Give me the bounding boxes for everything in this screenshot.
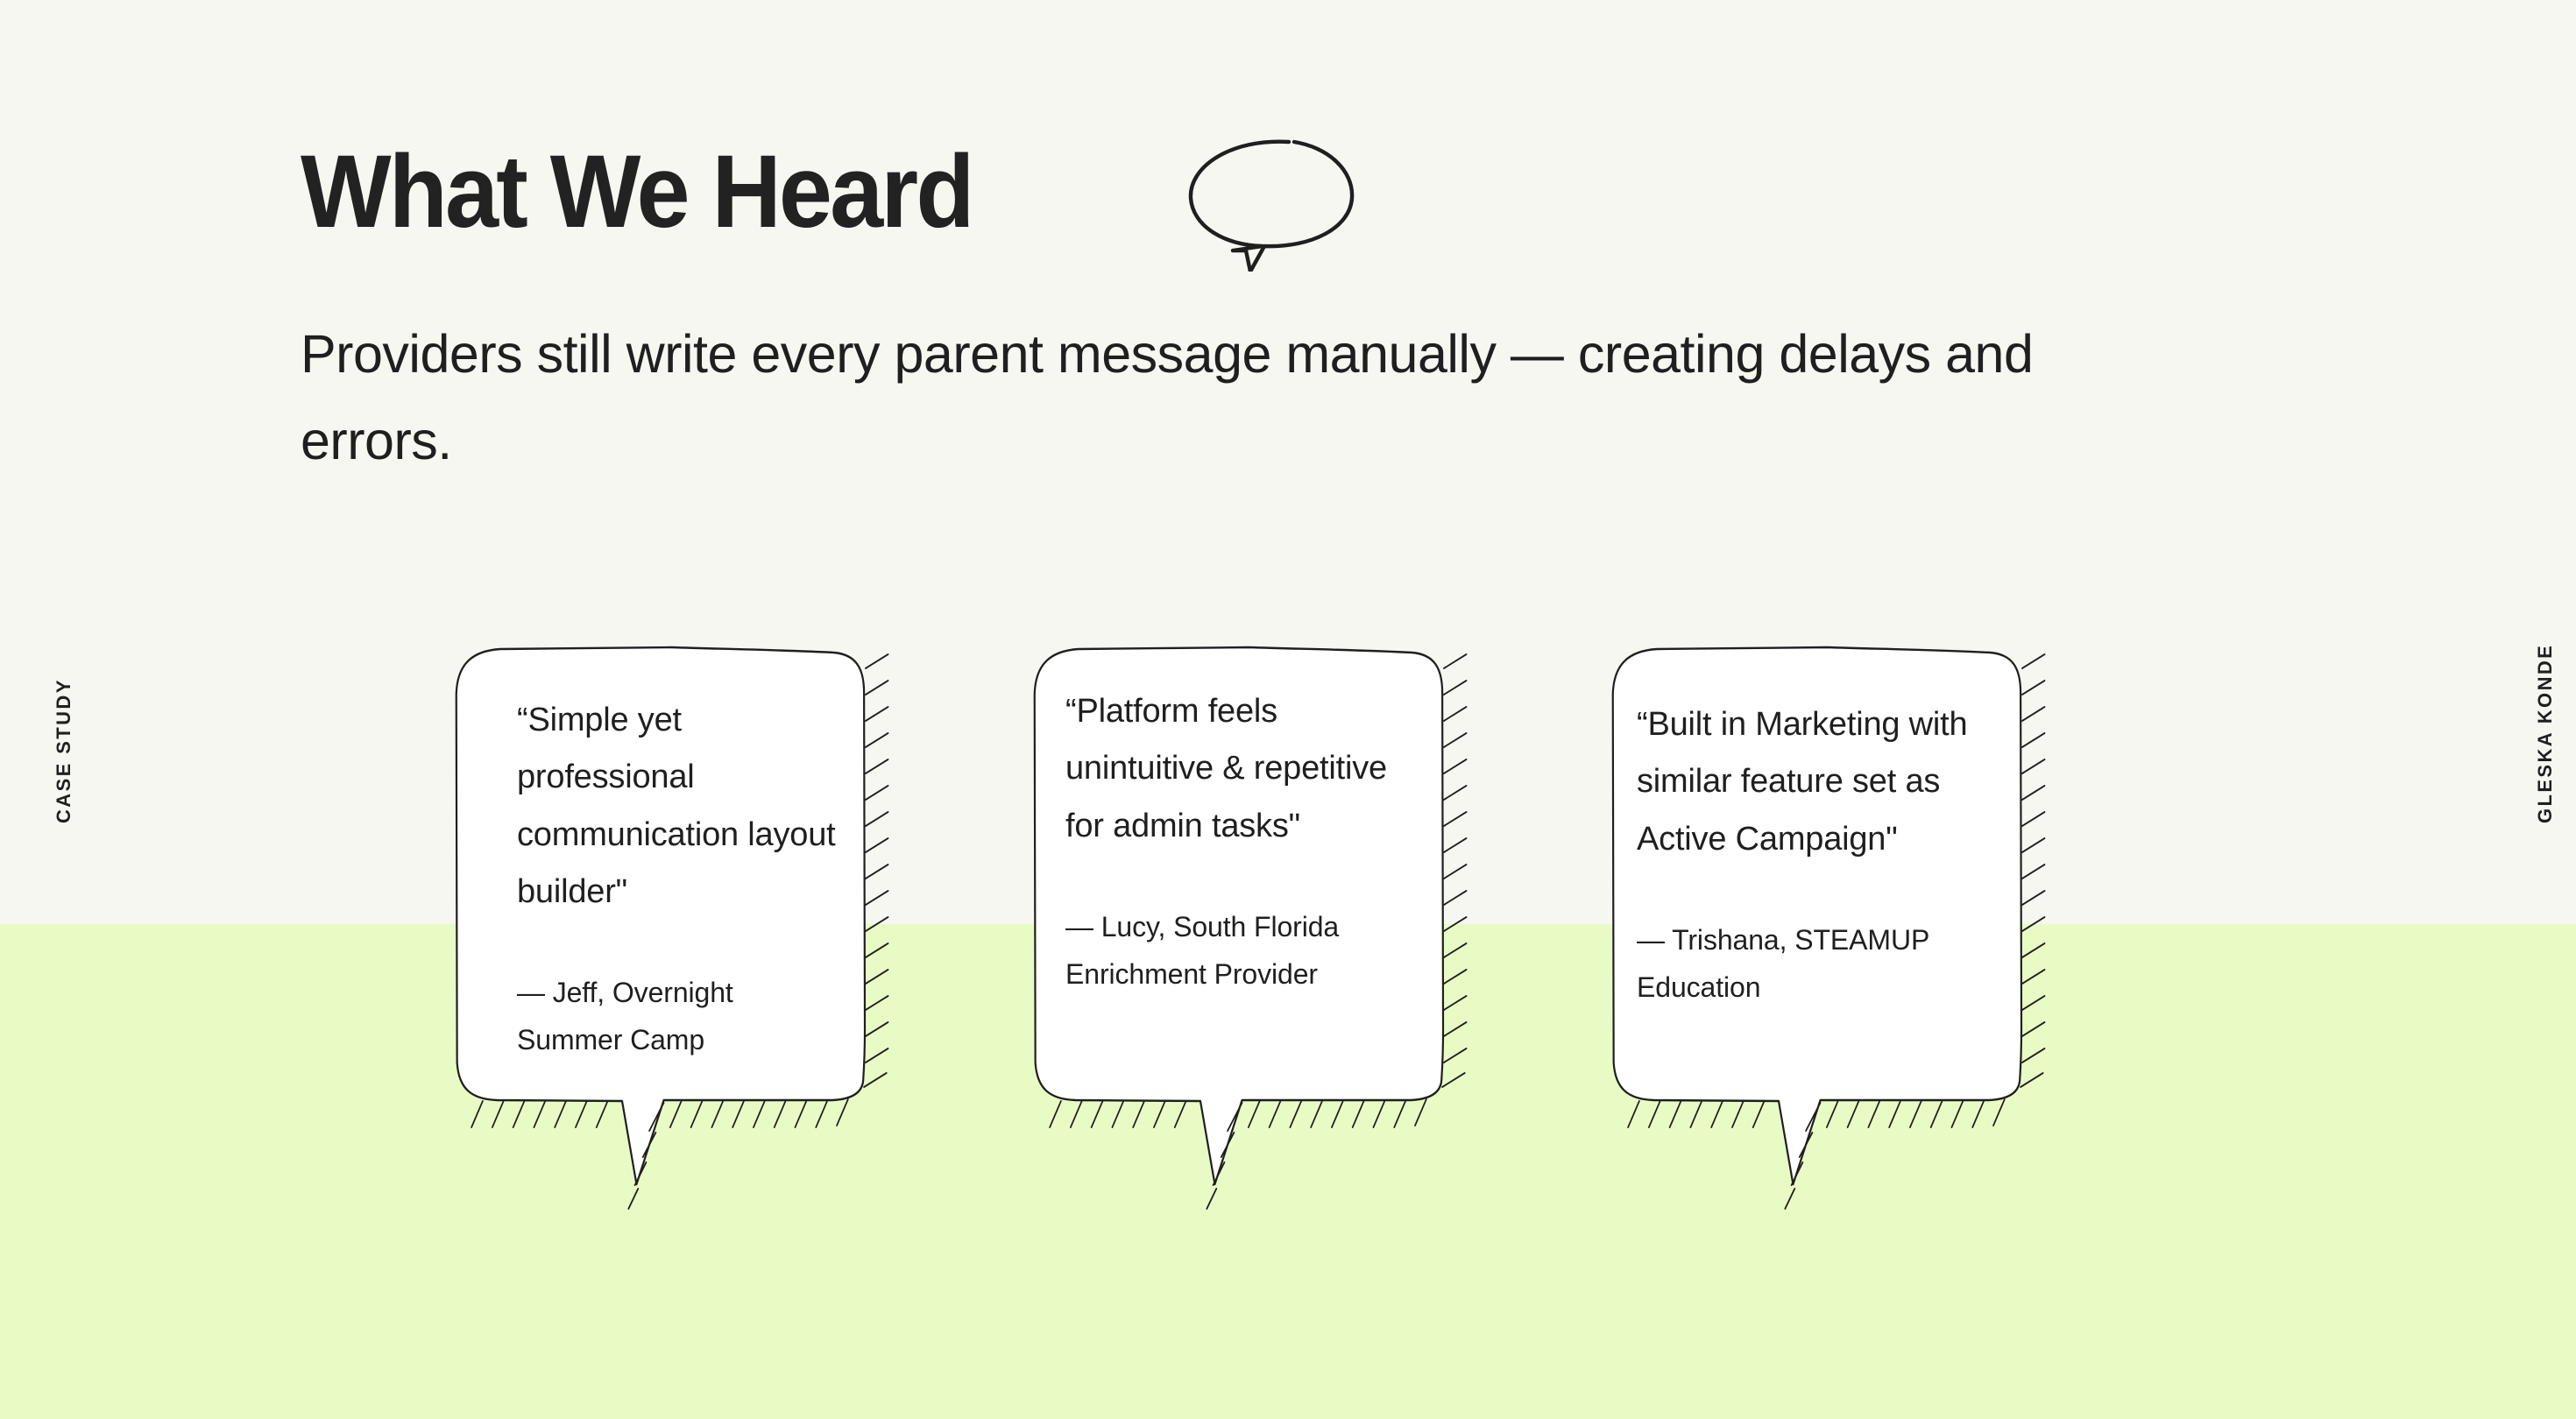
quote-attribution: — Trishana, STEAMUP Education [1637,917,1994,1012]
quote-text: “Simple yet professional communication l… [517,692,841,921]
quote-text: “Built in Marketing with similar feature… [1637,696,1994,868]
quote-card[interactable]: “Platform feels unintuitive & repetitive… [1032,644,1481,1204]
slide-canvas: CASE STUDY GLESKA KONDE What We Heard Pr… [0,0,2576,1419]
quote-attribution: — Lucy, South Florida Enrichment Provide… [1065,904,1425,999]
quote-card-text: “Simple yet professional communication l… [517,692,841,1064]
quote-card-text: “Built in Marketing with similar feature… [1637,696,1994,1012]
quote-card-list: “Simple yet professional communication l… [0,0,2576,1419]
quote-card-text: “Platform feels unintuitive & repetitive… [1065,683,1425,999]
quote-text: “Platform feels unintuitive & repetitive… [1065,683,1425,855]
quote-attribution: — Jeff, Overnight Summer Camp [517,970,841,1064]
quote-card[interactable]: “Built in Marketing with similar feature… [1610,644,2059,1204]
quote-card[interactable]: “Simple yet professional communication l… [454,644,902,1204]
